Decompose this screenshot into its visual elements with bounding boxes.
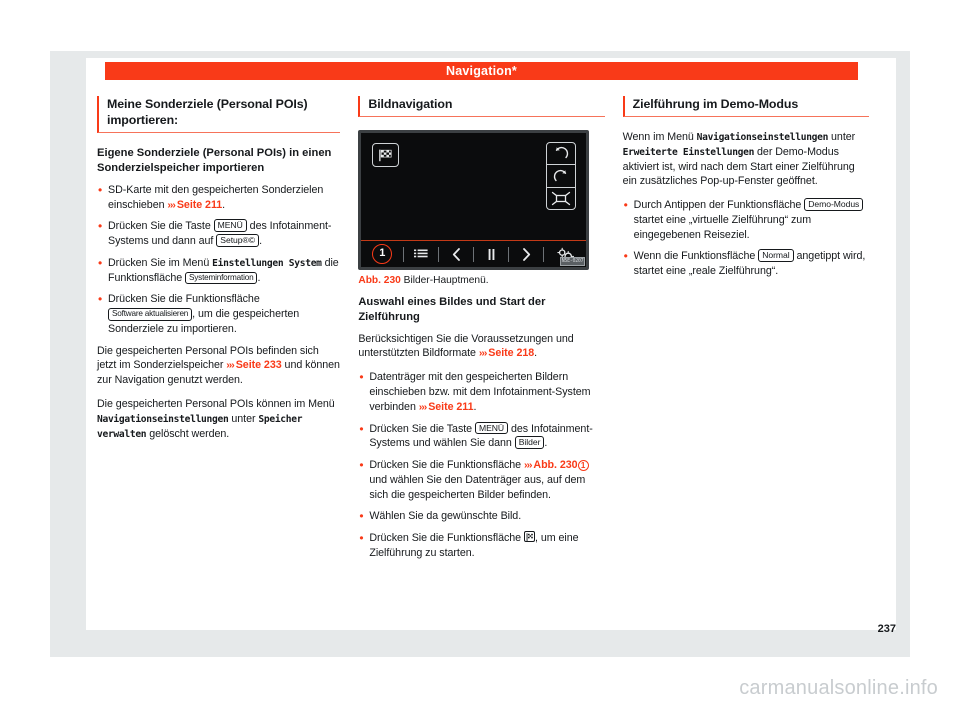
figure-caption-label: Abb. 230 xyxy=(358,275,400,286)
page-number: 237 xyxy=(878,623,896,635)
left-section-heading: Meine Sonderziele (Personal POIs) import… xyxy=(97,96,340,133)
list-item: Drücken Sie die Funktionsfläche , um ein… xyxy=(358,531,604,561)
cross-reference-link[interactable]: ››› Seite 233 xyxy=(226,359,281,371)
reference-arrow-icon: ››› xyxy=(167,199,176,211)
list-item: Drücken Sie die Funktionsfläche ››› Abb.… xyxy=(358,458,604,502)
center-column: Bildnavigation xyxy=(358,96,604,568)
list-item: Drücken Sie die Taste MENÜ des Infotainm… xyxy=(358,422,604,452)
callout-reference-1: 1 xyxy=(578,460,589,471)
footer-watermark: carmanualsonline.info xyxy=(0,677,938,700)
center-sub-heading: Auswahl eines Bildes und Start der Zielf… xyxy=(358,295,604,325)
paragraph: Die gespeicherten Personal POIs befinden… xyxy=(97,344,340,388)
reference-arrow-icon: ››› xyxy=(524,459,533,471)
paragraph: Berücksichtigen Sie die Voraussetzungen … xyxy=(358,332,604,362)
list-item: Drücken Sie die Funktionsfläche Software… xyxy=(97,292,340,336)
softkey-label[interactable]: Software aktualisieren xyxy=(108,308,192,321)
fullscreen-icon[interactable] xyxy=(547,188,575,210)
figure-230: 1 xyxy=(358,130,604,286)
right-bullet-list: Durch Antippen der Funktionsfläche Demo-… xyxy=(623,198,869,279)
toolbar-source-button[interactable]: 1 xyxy=(361,241,403,267)
screen-toolbar: 1 xyxy=(361,240,586,267)
image-tools-stack xyxy=(546,142,576,210)
reference-arrow-icon: ››› xyxy=(479,347,488,359)
softkey-label[interactable]: Normal xyxy=(758,249,793,262)
menu-path-label: Erweiterte Einstellungen xyxy=(623,147,754,158)
right-paragraph-list: Wenn im Menü Navigationseinstellungen un… xyxy=(623,130,869,189)
column-container: Meine Sonderziele (Personal POIs) import… xyxy=(97,96,869,568)
reference-arrow-icon: ››› xyxy=(226,359,235,371)
reference-arrow-icon: ››› xyxy=(419,401,428,413)
list-item: Drücken Sie die Taste MENÜ des Infotainm… xyxy=(97,219,340,249)
center-section-heading: Bildnavigation xyxy=(358,96,604,117)
menu-path-label: Navigationseinstellungen xyxy=(97,414,228,425)
checkered-flag-icon[interactable] xyxy=(524,531,535,542)
checkered-flag-icon[interactable] xyxy=(372,143,399,167)
pause-icon[interactable] xyxy=(474,241,508,267)
rotate-left-icon[interactable] xyxy=(547,143,575,165)
list-item: SD-Karte mit den gespeicherten Sonderzie… xyxy=(97,183,340,213)
paragraph: Die gespeicherten Personal POIs können i… xyxy=(97,397,340,441)
softkey-label[interactable]: Bilder xyxy=(515,436,545,449)
list-icon[interactable] xyxy=(404,241,438,267)
figure-watermark: N5E-0207 xyxy=(560,257,586,266)
center-bullet-list: Datenträger mit den gespeicherten Bilder… xyxy=(358,370,604,560)
softkey-label[interactable]: MENÜ xyxy=(214,219,247,232)
left-bullet-list: SD-Karte mit den gespeicherten Sonderzie… xyxy=(97,183,340,337)
rotate-right-icon[interactable] xyxy=(547,165,575,187)
page-banner-title: Navigation* xyxy=(105,62,858,80)
menu-path-label: Einstellungen System xyxy=(212,258,322,269)
right-column: Zielführung im Demo-Modus Wenn im Menü N… xyxy=(623,96,869,568)
right-section-heading: Zielführung im Demo-Modus xyxy=(623,96,869,117)
previous-icon[interactable] xyxy=(439,241,473,267)
paragraph: Wenn im Menü Navigationseinstellungen un… xyxy=(623,130,869,189)
next-icon[interactable] xyxy=(509,241,543,267)
infotainment-screen: 1 xyxy=(358,130,589,270)
softkey-label[interactable]: MENÜ xyxy=(475,422,508,435)
left-column: Meine Sonderziele (Personal POIs) import… xyxy=(97,96,340,568)
menu-path-label: Navigationseinstellungen xyxy=(697,132,828,143)
cross-reference-link[interactable]: ››› Seite 211 xyxy=(419,401,474,413)
list-item: Drücken Sie im Menü Einstellungen System… xyxy=(97,256,340,286)
softkey-label[interactable]: Demo-Modus xyxy=(804,198,863,211)
center-paragraph-list: Berücksichtigen Sie die Voraussetzungen … xyxy=(358,332,604,362)
left-sub-heading: Eigene Sonderziele (Personal POIs) in ei… xyxy=(97,146,340,176)
list-item: Durch Antippen der Funktionsfläche Demo-… xyxy=(623,198,869,242)
cross-reference-link[interactable]: ››› Seite 218 xyxy=(479,347,534,359)
softkey-label[interactable]: Systeminformation xyxy=(185,272,257,285)
list-item: Wenn die Funktionsfläche Normal angetipp… xyxy=(623,249,869,279)
figure-caption: Abb. 230 Bilder-Hauptmenü. xyxy=(358,275,604,286)
callout-marker-1: 1 xyxy=(372,244,392,264)
cross-reference-link[interactable]: ››› Seite 211 xyxy=(167,199,222,211)
cross-reference-link[interactable]: ››› Abb. 230 xyxy=(524,459,578,471)
left-paragraph-list: Die gespeicherten Personal POIs befinden… xyxy=(97,344,340,442)
list-item: Datenträger mit den gespeicherten Bilder… xyxy=(358,370,604,414)
manual-page: Navigation* Meine Sonderziele (Personal … xyxy=(0,0,960,708)
figure-caption-text: Bilder-Hauptmenü. xyxy=(404,275,489,286)
list-item: Wählen Sie da gewünschte Bild. xyxy=(358,509,604,524)
softkey-label[interactable]: Setup®© xyxy=(216,234,259,247)
